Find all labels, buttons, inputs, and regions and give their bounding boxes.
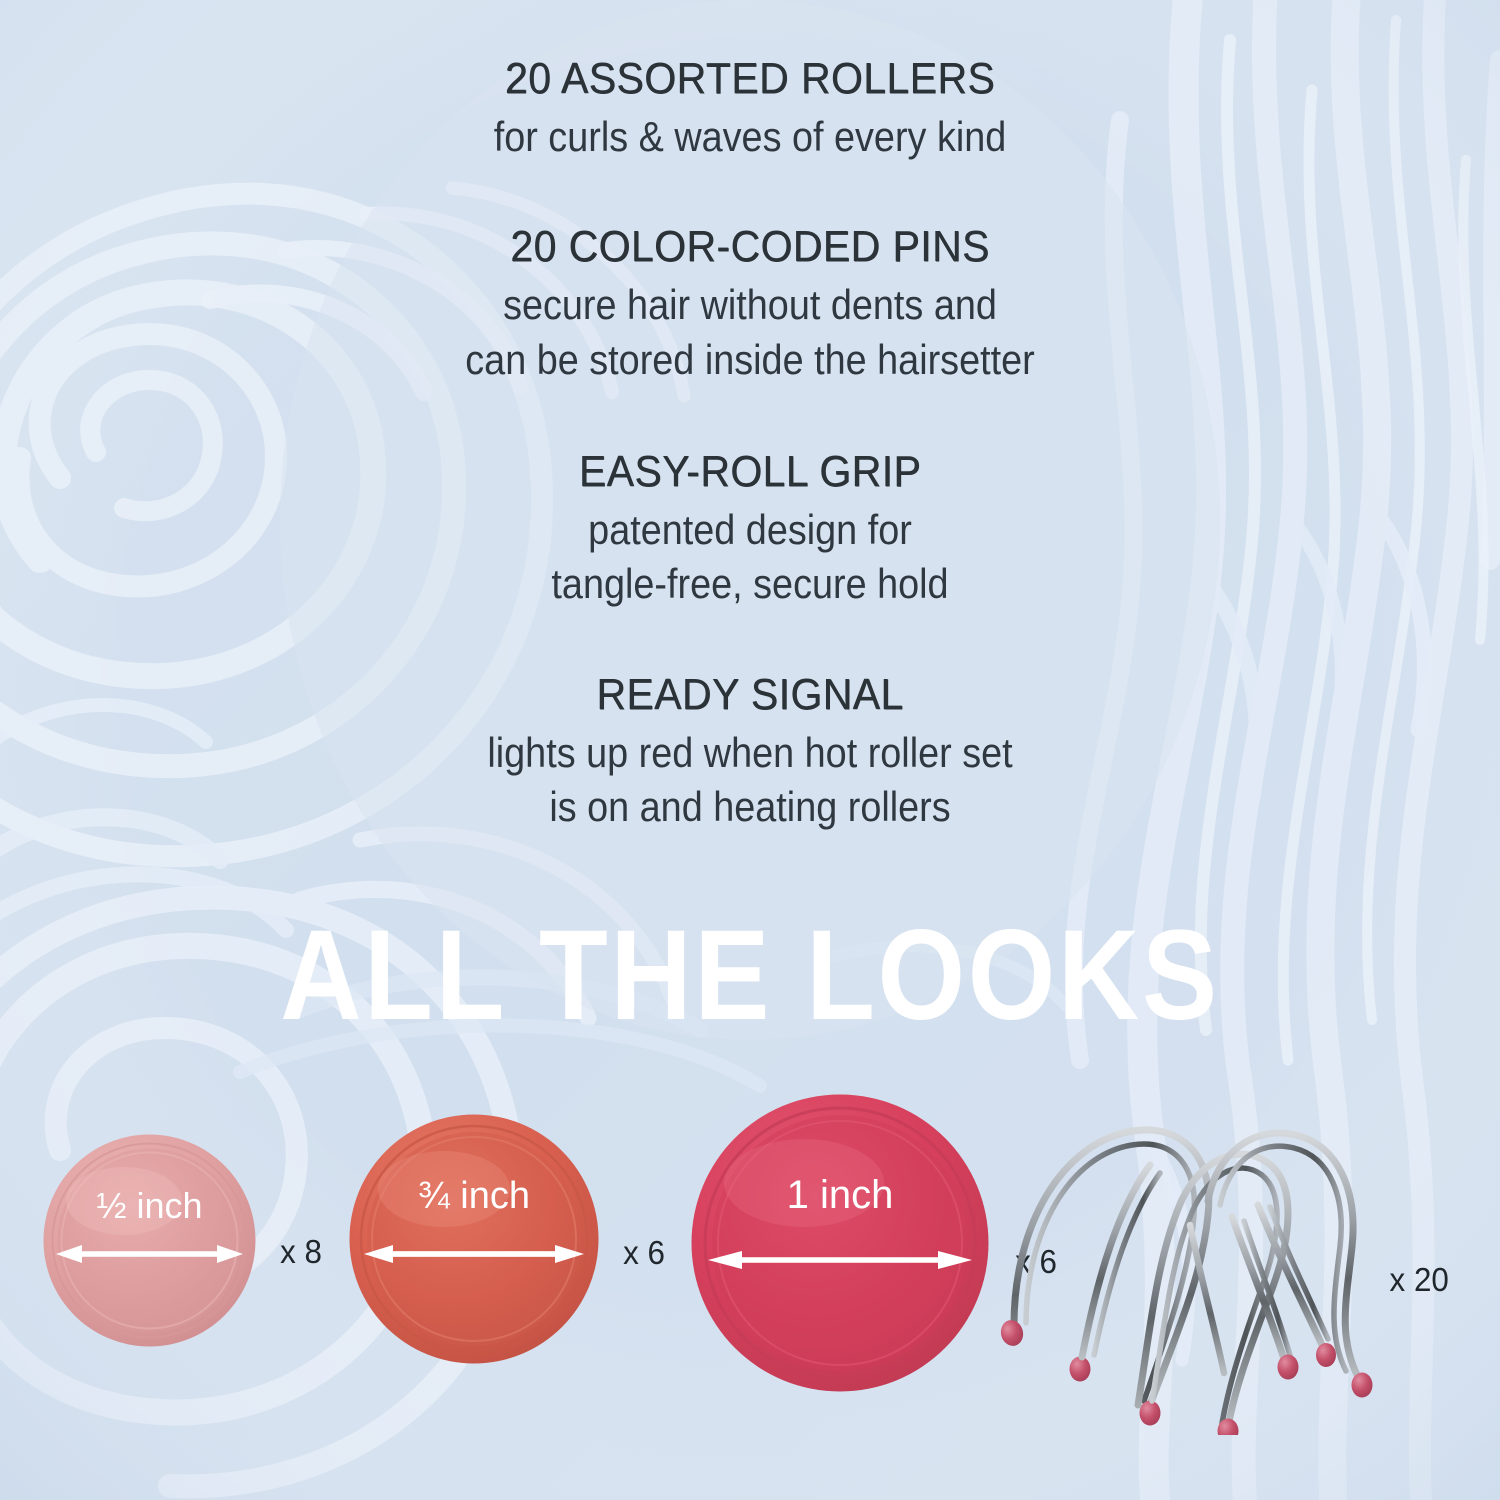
feature-line: for curls & waves of every kind — [75, 110, 1425, 165]
feature-line: secure hair without dents and — [75, 278, 1425, 333]
feature-description-pins: secure hair without dents and can be sto… — [75, 278, 1425, 387]
roller-three-quarter-inch-graphic — [348, 1113, 600, 1365]
feature-block-rollers: 20 ASSORTED ROLLERS for curls & waves of… — [0, 52, 1500, 164]
feature-line: can be stored inside the hairsetter — [75, 333, 1425, 388]
feature-line: patented design for — [75, 503, 1425, 558]
product-infographic: 20 ASSORTED ROLLERS for curls & waves of… — [0, 0, 1500, 1500]
feature-line: tangle-free, secure hold — [75, 557, 1425, 612]
hair-pin — [1000, 1130, 1209, 1426]
feature-title-grip: EASY-ROLL GRIP — [53, 445, 1448, 499]
product-three-quarter-inch: ¾ inch x 6 — [348, 1113, 666, 1365]
product-half-inch: ½ inch x 8 — [42, 1133, 323, 1348]
roller-half-inch: ½ inch — [42, 1133, 257, 1348]
product-size-row: ½ inch x 8 — [0, 1095, 1500, 1475]
headline-all-the-looks: ALL THE LOOKS — [90, 915, 1410, 1037]
feature-description-grip: patented design for tangle-free, secure … — [75, 503, 1425, 612]
feature-line: is on and heating rollers — [75, 780, 1425, 835]
hair-pin-tip — [1316, 1343, 1336, 1367]
feature-block-ready-signal: READY SIGNAL lights up red when hot roll… — [0, 668, 1500, 835]
roller-half-inch-graphic — [42, 1133, 257, 1348]
hair-pin — [1138, 1154, 1288, 1435]
feature-description-rollers: for curls & waves of every kind — [75, 110, 1425, 165]
roller-three-quarter-inch-arrow — [364, 1245, 584, 1263]
roller-one-inch-graphic — [690, 1093, 990, 1393]
roller-half-inch-arrow — [56, 1245, 243, 1263]
roller-half-inch-quantity: x 8 — [280, 1233, 322, 1271]
product-hair-pins: x 20 — [1000, 1105, 1450, 1435]
feature-title-pins: 20 COLOR-CODED PINS — [53, 220, 1448, 274]
hair-pins-graphic — [1000, 1105, 1380, 1435]
hair-pin-tip — [1000, 1318, 1026, 1349]
feature-block-grip: EASY-ROLL GRIP patented design for tangl… — [0, 445, 1500, 612]
feature-title-rollers: 20 ASSORTED ROLLERS — [53, 52, 1448, 106]
roller-three-quarter-inch-label: ¾ inch — [348, 1175, 600, 1218]
hair-pin-tip — [1140, 1401, 1161, 1426]
feature-line: lights up red when hot roller set — [75, 726, 1425, 781]
hair-pin-tip — [1278, 1355, 1299, 1380]
hair-pin-tip — [1070, 1357, 1091, 1382]
feature-title-ready-signal: READY SIGNAL — [53, 668, 1448, 722]
feature-list: 20 ASSORTED ROLLERS for curls & waves of… — [0, 52, 1500, 835]
feature-description-ready-signal: lights up red when hot roller set is on … — [75, 726, 1425, 835]
feature-block-pins: 20 COLOR-CODED PINS secure hair without … — [0, 220, 1500, 387]
roller-one-inch: 1 inch — [690, 1093, 990, 1393]
roller-one-inch-label: 1 inch — [690, 1173, 990, 1218]
roller-three-quarter-inch-quantity: x 6 — [623, 1234, 665, 1272]
hair-pins-quantity: x 20 — [1390, 1261, 1449, 1299]
hair-pin-tip — [1352, 1373, 1373, 1398]
roller-half-inch-label: ½ inch — [42, 1185, 257, 1227]
roller-one-inch-arrow — [708, 1251, 972, 1269]
roller-three-quarter-inch: ¾ inch — [348, 1113, 600, 1365]
